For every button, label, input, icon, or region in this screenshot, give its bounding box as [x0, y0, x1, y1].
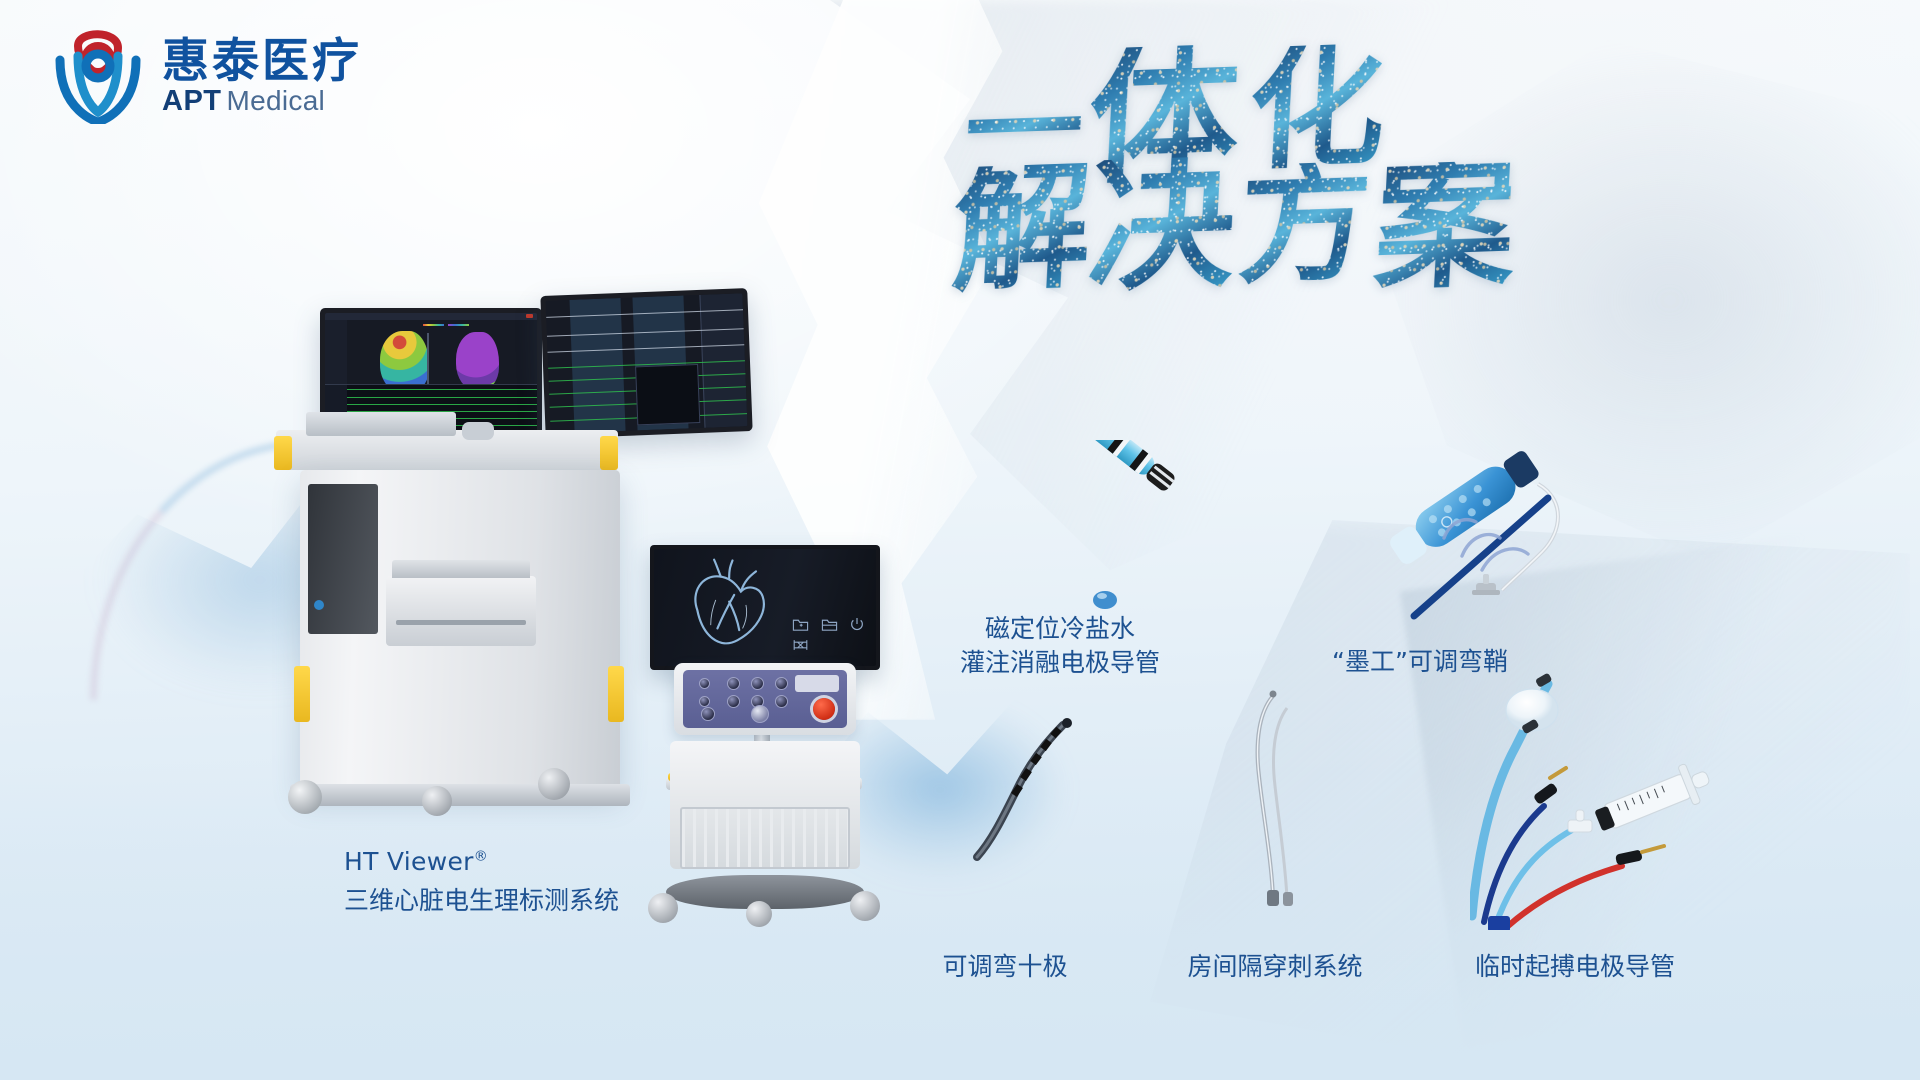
- panel-port[interactable]: [751, 677, 764, 690]
- folder-icon[interactable]: [821, 617, 838, 637]
- caption-temporary-pacing-catheter: 临时起搏电极导管: [1475, 950, 1675, 984]
- caster-wheel: [648, 893, 678, 923]
- computer-tower: [308, 484, 378, 634]
- panel-port[interactable]: [775, 677, 788, 690]
- cart-accent-bottom: [294, 666, 310, 722]
- keyboard-shelf: [276, 430, 618, 470]
- mapping-model-right: [456, 332, 498, 391]
- syringe: [1591, 757, 1716, 840]
- storage-basket: [680, 807, 850, 869]
- panel-port[interactable]: [699, 696, 710, 707]
- coax-port[interactable]: [751, 705, 769, 723]
- cart-accent-left: [274, 436, 292, 470]
- caption-ht-viewer: HT Viewer® 三维心脏电生理标测系统: [344, 845, 619, 918]
- panel-port[interactable]: [775, 695, 788, 708]
- headline-char-6: 方: [1236, 161, 1375, 287]
- new-folder-icon[interactable]: [792, 617, 809, 637]
- ep-recording-monitor-screen: [546, 293, 748, 433]
- power-icon[interactable]: [849, 616, 865, 637]
- caption-decapolar-catheter: 可调弯十极: [942, 950, 1067, 984]
- registered-trademark-symbol: ®: [474, 849, 488, 865]
- panel-port[interactable]: [727, 695, 740, 708]
- caption-ht-viewer-cn: 三维心脏电生理标测系统: [344, 884, 619, 918]
- display-cart: [650, 545, 910, 1035]
- printer: [386, 576, 536, 646]
- panel-face: [683, 670, 847, 728]
- caption-transseptal-puncture-system: 房间隔穿刺系统: [1187, 950, 1362, 984]
- cart-body: [300, 470, 620, 790]
- keyboard[interactable]: [306, 412, 456, 436]
- ground-port[interactable]: [701, 707, 715, 721]
- caption-irrigated-ablation-catheter: 磁定位冷盐水 灌注消融电极导管: [960, 612, 1160, 680]
- caption-irrigated-line-2: 灌注消融电极导管: [960, 646, 1160, 680]
- panel-display: [795, 675, 839, 692]
- stopcock: [1568, 810, 1592, 832]
- tower-power-led: [314, 600, 324, 610]
- mouse[interactable]: [462, 422, 494, 440]
- headline-char-5: 决: [1085, 156, 1238, 295]
- brand-logo: 惠泰医疗 APT Medical: [48, 26, 362, 124]
- ep-recording-monitor: [540, 288, 752, 439]
- decapolar-catheter-image: [935, 715, 1085, 925]
- headline-calligraphy: 一 体 化 解 决 方 案: [965, 45, 1625, 345]
- panel-port[interactable]: [699, 678, 710, 689]
- cart-base: [290, 784, 630, 806]
- printer-paper-tray: [392, 560, 530, 578]
- caster-wheel: [288, 780, 322, 814]
- brand-name-en-apt: APT: [162, 87, 222, 116]
- printer-slot: [396, 620, 526, 625]
- brand-wordmark: 惠泰医疗 APT Medical: [162, 34, 362, 116]
- panel-port[interactable]: [727, 677, 740, 690]
- transseptal-puncture-system-image: [1225, 690, 1335, 930]
- brand-name-en: APT Medical: [162, 87, 362, 116]
- steerable-sheath-image: [1370, 440, 1650, 630]
- headline-line-2: 解 决 方 案: [953, 158, 1625, 292]
- caption-irrigated-line-1: 磁定位冷盐水: [960, 612, 1160, 646]
- brand-name-cn: 惠泰医疗: [162, 38, 362, 85]
- caster-wheel: [850, 891, 880, 921]
- headline-char-7: 案: [1371, 159, 1518, 293]
- cart-accent-right: [600, 436, 618, 470]
- pacing-connector: [1488, 916, 1510, 930]
- heart-graphic: [667, 558, 791, 659]
- brand-name-en-medical: Medical: [227, 87, 326, 115]
- heart-display-monitor: [650, 545, 880, 670]
- power-button[interactable]: [813, 698, 835, 720]
- apt-medical-logo-mark: [48, 26, 148, 124]
- hemostasis-valve: [1472, 574, 1500, 595]
- heart-display-screen: [654, 549, 876, 666]
- headline-char-4: 解: [949, 163, 1094, 295]
- poster-canvas: 惠泰医疗 APT Medical 一 体 化 解 决 方 案: [0, 0, 1920, 1080]
- caster-wheel: [422, 786, 452, 816]
- generator-connector-panel[interactable]: [674, 663, 856, 735]
- caption-steerable-sheath: “墨工”可调弯鞘: [1332, 645, 1508, 679]
- caption-ht-viewer-en: HT Viewer®: [344, 845, 619, 879]
- caster-wheel: [538, 768, 570, 800]
- cart-accent-bottom-right: [608, 666, 624, 722]
- irrigated-ablation-catheter-image: [975, 440, 1195, 610]
- adjust-icon[interactable]: [792, 638, 809, 657]
- caster-wheel: [746, 901, 772, 927]
- temporary-pacing-catheter-image: [1470, 660, 1770, 930]
